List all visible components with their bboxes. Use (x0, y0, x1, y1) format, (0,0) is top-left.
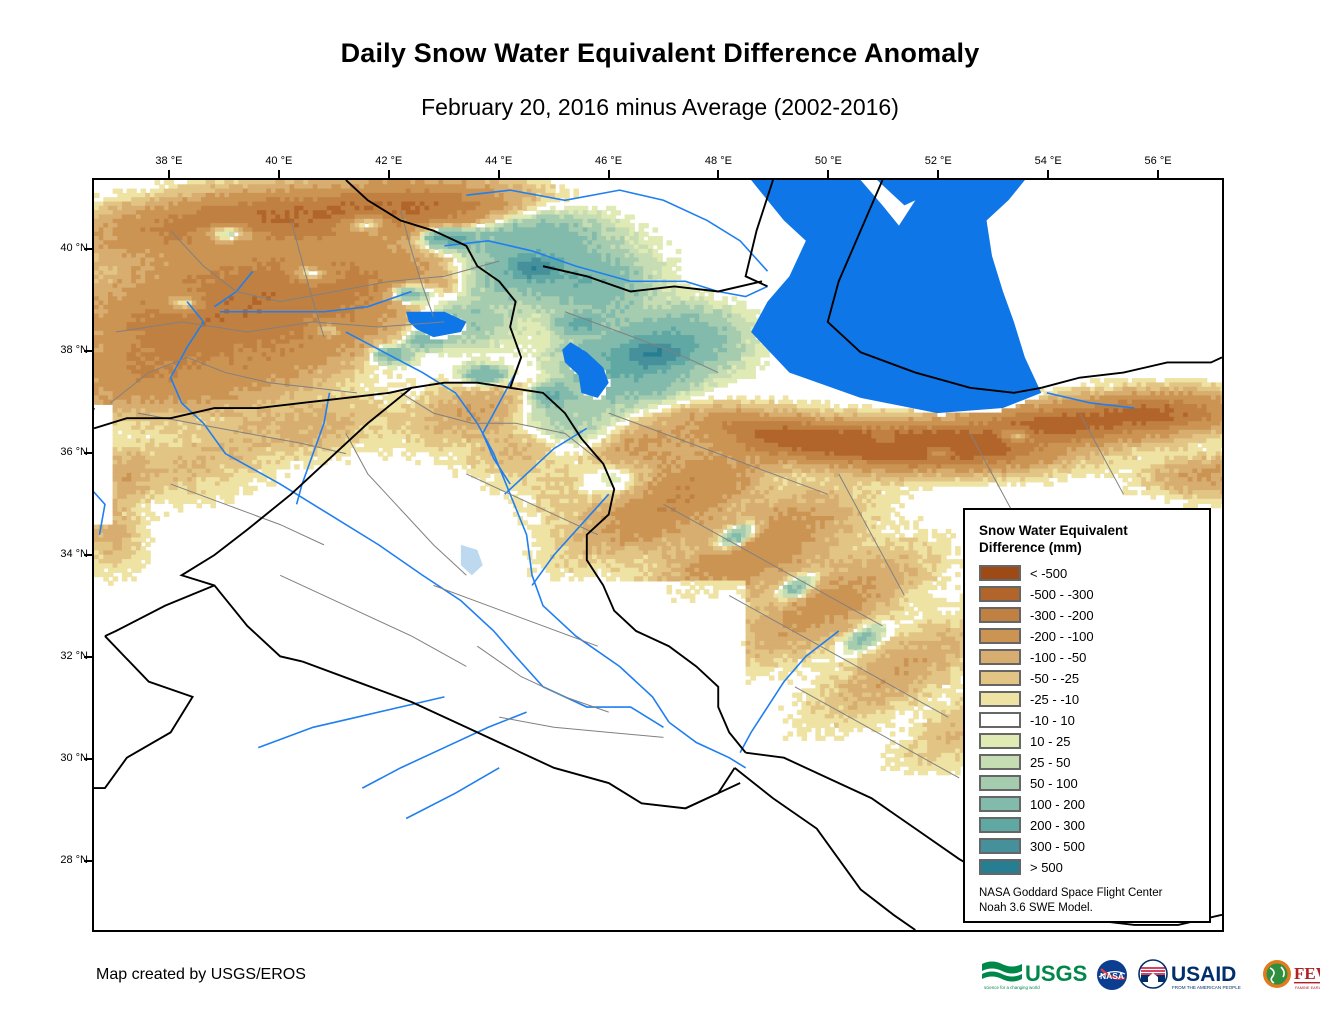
map-legend: Snow Water Equivalent Difference (mm) < … (963, 508, 1211, 923)
map-credit: Map created by USGS/EROS (96, 966, 306, 984)
lon-label-54: 54 °E (1018, 155, 1078, 167)
legend-title: Snow Water Equivalent Difference (mm) (979, 522, 1199, 557)
legend-swatch-11 (979, 796, 1021, 812)
legend-note-line1: NASA Goddard Space Flight Center (979, 886, 1199, 901)
legend-row-13: 300 - 500 (979, 836, 1199, 857)
lat-tick-38 (84, 350, 92, 352)
lon-tick-50 (827, 170, 829, 178)
legend-swatch-2 (979, 607, 1021, 623)
lat-tick-36 (84, 452, 92, 454)
legend-swatch-3 (979, 628, 1021, 644)
legend-label-14: > 500 (1030, 860, 1063, 875)
legend-label-13: 300 - 500 (1030, 839, 1085, 854)
lon-label-48: 48 °E (688, 155, 748, 167)
page-subtitle: February 20, 2016 minus Average (2002-20… (0, 94, 1320, 121)
fewsnet-logo-tagline: FAMINE EARLY WARNING SYSTEMS NETWORK (1295, 985, 1320, 990)
legend-swatch-4 (979, 649, 1021, 665)
legend-label-10: 50 - 100 (1030, 776, 1078, 791)
legend-label-2: -300 - -200 (1030, 608, 1094, 623)
lat-label-38: 38 °N (40, 344, 88, 356)
legend-row-1: -500 - -300 (979, 584, 1199, 605)
legend-label-1: -500 - -300 (1030, 587, 1094, 602)
legend-swatch-14 (979, 859, 1021, 875)
legend-swatch-6 (979, 691, 1021, 707)
page-title: Daily Snow Water Equivalent Difference A… (0, 38, 1320, 69)
lon-label-52: 52 °E (908, 155, 968, 167)
lon-tick-52 (937, 170, 939, 178)
legend-note-line2: Noah 3.6 SWE Model. (979, 901, 1199, 916)
legend-label-6: -25 - -10 (1030, 692, 1079, 707)
lat-label-28: 28 °N (40, 854, 88, 866)
legend-row-2: -300 - -200 (979, 605, 1199, 626)
lat-label-36: 36 °N (40, 446, 88, 458)
legend-class-list: < -500-500 - -300-300 - -200-200 - -100-… (979, 563, 1199, 878)
legend-row-4: -100 - -50 (979, 647, 1199, 668)
usgs-logo-text: USGS (1025, 961, 1087, 986)
lon-tick-38 (168, 170, 170, 178)
legend-swatch-12 (979, 817, 1021, 833)
legend-row-5: -50 - -25 (979, 668, 1199, 689)
usgs-logo: USGS science for a changing world (980, 958, 1088, 992)
lat-tick-32 (84, 656, 92, 658)
fewsnet-logo-text: FEWS NET (1294, 964, 1320, 983)
nasa-logo: NASA (1095, 958, 1129, 992)
legend-swatch-10 (979, 775, 1021, 791)
lon-label-56: 56 °E (1128, 155, 1188, 167)
legend-row-6: -25 - -10 (979, 689, 1199, 710)
legend-row-14: > 500 (979, 857, 1199, 878)
fewsnet-logo: FEWS NET FAMINE EARLY WARNING SYSTEMS NE… (1261, 958, 1320, 992)
lat-tick-28 (84, 860, 92, 862)
usgs-logo-tagline: science for a changing world (984, 985, 1040, 990)
legend-row-10: 50 - 100 (979, 773, 1199, 794)
legend-row-0: < -500 (979, 563, 1199, 584)
lat-label-32: 32 °N (40, 650, 88, 662)
lon-label-46: 46 °E (579, 155, 639, 167)
legend-swatch-1 (979, 586, 1021, 602)
legend-label-7: -10 - 10 (1030, 713, 1075, 728)
legend-label-0: < -500 (1030, 566, 1067, 581)
legend-swatch-0 (979, 565, 1021, 581)
lat-label-34: 34 °N (40, 548, 88, 560)
usaid-logo-tagline: FROM THE AMERICAN PEOPLE (1172, 985, 1241, 990)
lon-tick-56 (1157, 170, 1159, 178)
legend-title-line1: Snow Water Equivalent (979, 523, 1128, 538)
lat-tick-34 (84, 554, 92, 556)
legend-row-3: -200 - -100 (979, 626, 1199, 647)
lon-label-44: 44 °E (469, 155, 529, 167)
lon-label-50: 50 °E (798, 155, 858, 167)
usaid-logo: USAID FROM THE AMERICAN PEOPLE (1136, 958, 1254, 992)
lon-tick-44 (498, 170, 500, 178)
lon-tick-54 (1047, 170, 1049, 178)
legend-title-line2: Difference (mm) (979, 540, 1082, 555)
legend-swatch-7 (979, 712, 1021, 728)
usaid-logo-text: USAID (1171, 963, 1236, 986)
lat-tick-30 (84, 758, 92, 760)
legend-row-9: 25 - 50 (979, 752, 1199, 773)
lon-label-40: 40 °E (249, 155, 309, 167)
legend-label-8: 10 - 25 (1030, 734, 1070, 749)
lon-label-38: 38 °E (139, 155, 199, 167)
lon-label-42: 42 °E (359, 155, 419, 167)
nasa-logo-text: NASA (1100, 971, 1124, 981)
legend-row-12: 200 - 300 (979, 815, 1199, 836)
lon-tick-40 (278, 170, 280, 178)
legend-label-5: -50 - -25 (1030, 671, 1079, 686)
legend-swatch-5 (979, 670, 1021, 686)
lon-tick-42 (388, 170, 390, 178)
legend-row-11: 100 - 200 (979, 794, 1199, 815)
lat-label-30: 30 °N (40, 752, 88, 764)
legend-row-7: -10 - 10 (979, 710, 1199, 731)
legend-swatch-8 (979, 733, 1021, 749)
legend-label-3: -200 - -100 (1030, 629, 1094, 644)
legend-label-9: 25 - 50 (1030, 755, 1070, 770)
agency-logo-strip: USGS science for a changing world NASA U… (980, 955, 1320, 995)
lon-tick-46 (608, 170, 610, 178)
lon-tick-48 (717, 170, 719, 178)
legend-label-4: -100 - -50 (1030, 650, 1086, 665)
legend-source-note: NASA Goddard Space Flight Center Noah 3.… (979, 886, 1199, 917)
legend-label-12: 200 - 300 (1030, 818, 1085, 833)
lat-tick-40 (84, 248, 92, 250)
legend-label-11: 100 - 200 (1030, 797, 1085, 812)
legend-swatch-13 (979, 838, 1021, 854)
legend-swatch-9 (979, 754, 1021, 770)
legend-row-8: 10 - 25 (979, 731, 1199, 752)
lat-label-40: 40 °N (40, 242, 88, 254)
